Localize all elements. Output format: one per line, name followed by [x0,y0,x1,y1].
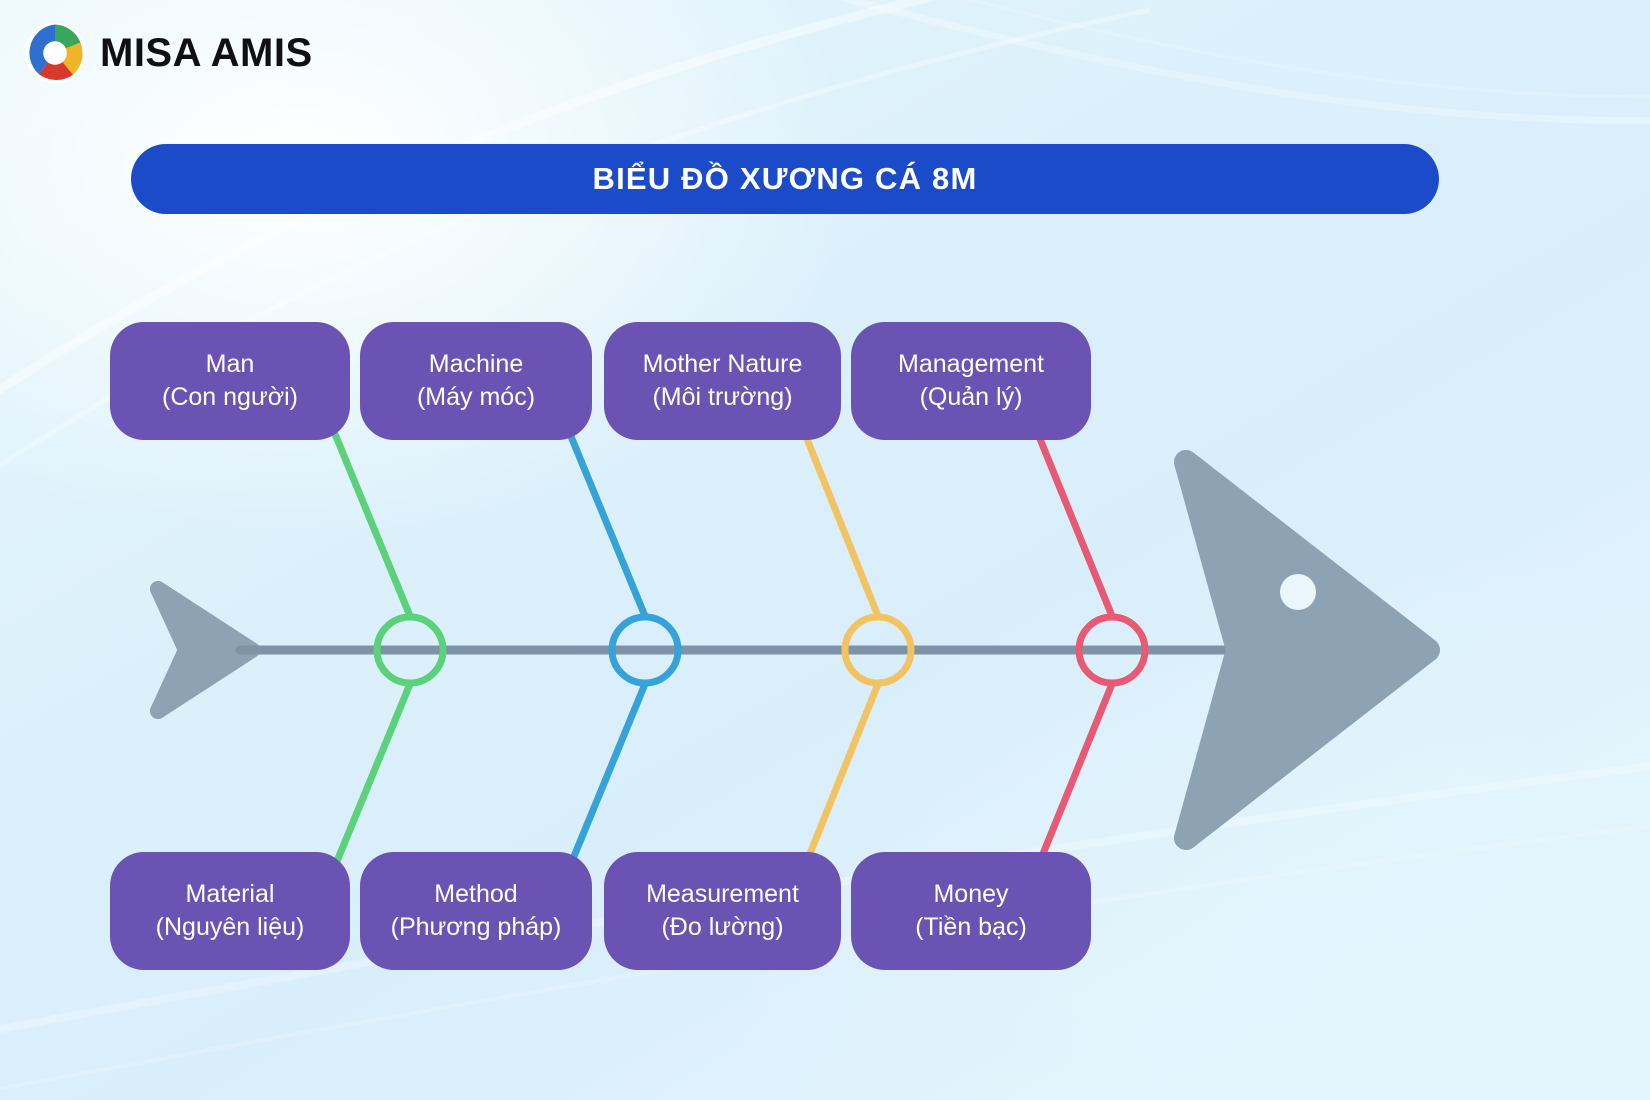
category-name-vi: (Phương pháp) [391,913,562,943]
category-name: Machine [429,350,524,380]
fishbone-infographic-canvas: MISA AMIS BIỂU ĐỒ XƯƠNG CÁ 8M Man (Con n… [0,0,1650,1100]
category-name-vi: (Tiền bạc) [915,913,1027,943]
category-box-money[interactable]: Money (Tiền bạc) [851,852,1091,970]
category-name: Material [186,880,275,910]
category-name-vi: (Quản lý) [920,383,1023,413]
category-name: Man [206,350,255,380]
rib-top-mother-nature [805,434,878,616]
category-name-vi: (Nguyên liệu) [156,913,305,943]
category-name: Management [898,350,1044,380]
category-box-measurement[interactable]: Measurement (Đo lường) [604,852,841,970]
rib-top-management [1038,434,1112,616]
category-box-management[interactable]: Management (Quản lý) [851,322,1091,440]
rib-bottom-measurement [805,684,878,866]
category-box-material[interactable]: Material (Nguyên liệu) [110,852,350,970]
category-box-method[interactable]: Method (Phương pháp) [360,852,592,970]
category-name: Measurement [646,880,799,910]
category-name-vi: (Con người) [162,383,298,413]
category-name: Mother Nature [643,350,803,380]
category-name: Method [434,880,517,910]
fish-eye [1280,574,1316,610]
category-box-mother-nature[interactable]: Mother Nature (Môi trường) [604,322,841,440]
category-name-vi: (Đo lường) [661,913,783,943]
rib-bottom-money [1038,684,1112,866]
category-box-machine[interactable]: Machine (Máy móc) [360,322,592,440]
category-name-vi: (Môi trường) [652,383,792,413]
category-box-man[interactable]: Man (Con người) [110,322,350,440]
rib-top-machine [570,434,645,616]
rib-bottom-method [570,684,645,866]
rib-bottom-material [335,684,410,866]
category-name: Money [933,880,1008,910]
category-name-vi: (Máy móc) [417,383,535,413]
rib-top-man [335,434,410,616]
